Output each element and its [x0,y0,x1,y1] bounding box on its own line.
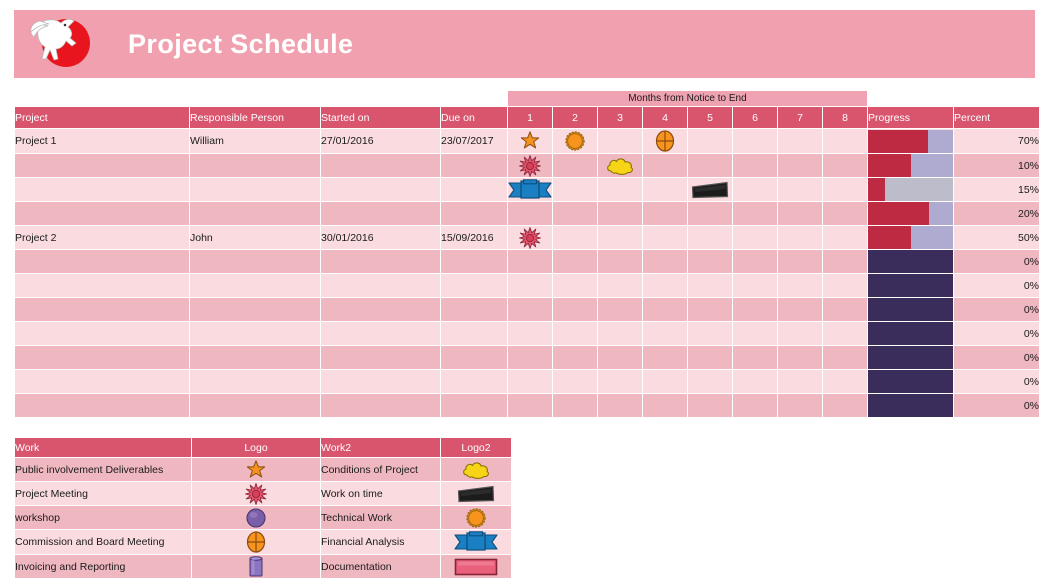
month-cell-2[interactable] [553,250,597,273]
cell-project[interactable] [15,178,189,201]
month-cell-6[interactable] [733,274,777,297]
month-cell-5[interactable] [688,250,732,273]
cell-responsible[interactable] [190,346,320,369]
month-cell-6[interactable] [733,346,777,369]
cell-responsible[interactable] [190,250,320,273]
column-header-month-8[interactable]: 8 [823,107,867,128]
percent-cell[interactable]: 50% [954,226,1039,249]
legend-work-label: Project Meeting [15,482,191,505]
group-spacer-resp [190,91,320,106]
column-header-month-1[interactable]: 1 [508,107,552,128]
month-cell-6[interactable] [733,250,777,273]
cell-due-on[interactable] [441,178,507,201]
column-header-project[interactable]: Project [15,107,189,128]
purple-circle-icon [246,508,266,528]
cell-responsible[interactable] [190,202,320,225]
group-spacer-progress [868,91,953,106]
cell-started-on[interactable] [321,178,440,201]
month-cell-7[interactable] [778,274,822,297]
legend-work2-label: Documentation [321,555,440,578]
black-screen-icon [457,485,495,503]
cell-started-on[interactable] [321,346,440,369]
legend-body: Public involvement DeliverablesCondition… [15,458,511,578]
table-row[interactable]: Project 2John30/01/201615/09/201650% [15,226,1039,249]
month-cell-4[interactable] [643,129,687,153]
progress-bar-fill [868,178,885,201]
column-header-progress[interactable]: Progress [868,107,953,128]
legend-column-header-logo[interactable]: Logo [192,438,320,457]
legend-logo-cell [192,458,320,481]
cell-due-on[interactable]: 15/09/2016 [441,226,507,249]
month-cell-1[interactable] [508,346,552,369]
month-cell-7[interactable] [778,250,822,273]
table-row[interactable]: Project 1William27/01/201623/07/201770% [15,129,1039,153]
legend-row[interactable]: Public involvement DeliverablesCondition… [15,458,511,481]
column-header-responsible[interactable]: Responsible Person [190,107,320,128]
column-header-month-5[interactable]: 5 [688,107,732,128]
pink-sunburst-icon [245,483,267,505]
legend-work-label: Commission and Board Meeting [15,530,191,554]
legend-column-header-work[interactable]: Work [15,438,191,457]
month-cell-1[interactable] [508,250,552,273]
column-header-month-3[interactable]: 3 [598,107,642,128]
pink-sunburst-icon [519,227,541,249]
month-cell-2[interactable] [553,202,597,225]
month-cell-6[interactable] [733,129,777,153]
cell-due-on[interactable] [441,394,507,417]
month-cell-7[interactable] [778,226,822,249]
column-header-month-7[interactable]: 7 [778,107,822,128]
column-header-percent[interactable]: Percent [954,107,1039,128]
table-row[interactable]: 0% [15,274,1039,297]
month-cell-3[interactable] [598,129,642,153]
cell-responsible[interactable] [190,154,320,177]
percent-cell[interactable]: 0% [954,346,1039,369]
cell-due-on[interactable] [441,250,507,273]
progress-cell[interactable] [868,274,953,297]
cell-started-on[interactable]: 27/01/2016 [321,129,440,153]
month-cell-1[interactable] [508,202,552,225]
table-row[interactable]: 10% [15,154,1039,177]
legend-logo-cell [192,530,320,554]
month-cell-3[interactable] [598,250,642,273]
percent-cell[interactable]: 0% [954,322,1039,345]
month-cell-8[interactable] [823,250,867,273]
month-cell-3[interactable] [598,346,642,369]
progress-bar [868,322,953,345]
month-cell-6[interactable] [733,370,777,393]
orange-sun-disc-icon [465,507,487,529]
group-spacer-percent [954,91,1039,106]
cell-started-on[interactable] [321,154,440,177]
month-cell-3[interactable] [598,202,642,225]
month-cell-5[interactable] [688,322,732,345]
progress-bar [868,202,953,225]
cell-responsible[interactable] [190,394,320,417]
month-cell-4[interactable] [643,274,687,297]
progress-cell[interactable] [868,129,953,153]
cell-started-on[interactable] [321,298,440,321]
month-cell-3[interactable] [598,322,642,345]
percent-cell[interactable]: 0% [954,274,1039,297]
percent-cell[interactable]: 20% [954,202,1039,225]
cell-started-on[interactable]: 30/01/2016 [321,226,440,249]
month-cell-8[interactable] [823,298,867,321]
progress-cell[interactable] [868,226,953,249]
legend-row[interactable]: Commission and Board MeetingFinancial An… [15,530,511,554]
month-cell-1[interactable] [508,178,552,201]
pink-rectangle-icon [454,558,498,576]
schedule-header-row: Project Responsible Person Started on Du… [15,107,1039,128]
cell-due-on[interactable] [441,202,507,225]
month-cell-6[interactable] [733,322,777,345]
legend-work-label: Public involvement Deliverables [15,458,191,481]
progress-bar [868,346,953,369]
month-cell-4[interactable] [643,298,687,321]
blue-ribbon-icon [454,531,498,553]
table-row[interactable]: 0% [15,322,1039,345]
legend-work-label: workshop [15,506,191,529]
month-cell-3[interactable] [598,274,642,297]
month-cell-6[interactable] [733,298,777,321]
month-cell-6[interactable] [733,226,777,249]
legend-logo2-cell [441,482,511,505]
legend-row[interactable]: Project MeetingWork on time [15,482,511,505]
month-cell-1[interactable] [508,226,552,249]
legend-row[interactable]: workshopTechnical Work [15,506,511,529]
month-cell-3[interactable] [598,298,642,321]
month-cell-8[interactable] [823,178,867,201]
month-cell-6[interactable] [733,154,777,177]
month-cell-3[interactable] [598,226,642,249]
table-row[interactable]: 0% [15,250,1039,273]
month-cell-4[interactable] [643,202,687,225]
cell-project[interactable] [15,322,189,345]
progress-bar [868,178,953,201]
legend-work2-label: Financial Analysis [321,530,440,554]
month-cell-5[interactable] [688,154,732,177]
page-title: Project Schedule [128,29,353,60]
progress-cell[interactable] [868,370,953,393]
cell-responsible[interactable] [190,274,320,297]
progress-bar-fill [868,202,929,225]
month-cell-2[interactable] [553,346,597,369]
orange-crossed-circle-icon [245,530,267,554]
progress-bar-fill [868,154,911,177]
month-cell-4[interactable] [643,322,687,345]
cell-responsible[interactable]: William [190,129,320,153]
cell-due-on[interactable] [441,274,507,297]
progress-cell[interactable] [868,394,953,417]
legend-work-label: Invoicing and Reporting [15,555,191,578]
month-cell-7[interactable] [778,298,822,321]
month-cell-8[interactable] [823,394,867,417]
month-cell-7[interactable] [778,394,822,417]
percent-cell[interactable]: 0% [954,394,1039,417]
percent-cell[interactable]: 0% [954,370,1039,393]
progress-bar [868,154,953,177]
percent-cell[interactable]: 10% [954,154,1039,177]
month-cell-3[interactable] [598,178,642,201]
month-cell-8[interactable] [823,274,867,297]
percent-cell[interactable]: 15% [954,178,1039,201]
month-cell-4[interactable] [643,154,687,177]
column-header-started-on[interactable]: Started on [321,107,440,128]
table-row[interactable]: 0% [15,298,1039,321]
cell-project[interactable]: Project 1 [15,129,189,153]
month-cell-4[interactable] [643,370,687,393]
month-cell-8[interactable] [823,346,867,369]
orange-star-icon [519,130,541,152]
month-cell-5[interactable] [688,346,732,369]
legend-column-header-work2[interactable]: Work2 [321,438,440,457]
month-cell-6[interactable] [733,202,777,225]
month-cell-2[interactable] [553,274,597,297]
progress-cell[interactable] [868,322,953,345]
blue-ribbon-icon [508,179,552,201]
group-spacer-due [441,91,507,106]
month-cell-6[interactable] [733,178,777,201]
cell-started-on[interactable] [321,322,440,345]
orange-crossed-circle-icon [654,129,676,153]
schedule-group-header-row: Months from Notice to End [15,91,1039,106]
group-spacer-project [15,91,189,106]
month-cell-2[interactable] [553,226,597,249]
pegasus-horse-glyph [28,13,100,75]
cell-project[interactable] [15,250,189,273]
month-cell-5[interactable] [688,202,732,225]
month-cell-7[interactable] [778,346,822,369]
month-cell-4[interactable] [643,178,687,201]
cell-due-on[interactable] [441,154,507,177]
cell-project[interactable] [15,154,189,177]
table-row[interactable]: 15% [15,178,1039,201]
progress-bar [868,130,953,153]
percent-cell[interactable]: 0% [954,250,1039,273]
pink-sunburst-icon [519,155,541,177]
month-cell-5[interactable] [688,370,732,393]
progress-bar [868,250,953,273]
progress-cell[interactable] [868,298,953,321]
progress-cell[interactable] [868,154,953,177]
progress-cell[interactable] [868,202,953,225]
progress-bar [868,370,953,393]
month-cell-1[interactable] [508,394,552,417]
cell-project[interactable] [15,370,189,393]
progress-cell[interactable] [868,346,953,369]
legend-work2-label: Work on time [321,482,440,505]
month-cell-6[interactable] [733,394,777,417]
month-cell-7[interactable] [778,178,822,201]
progress-bar-fill [868,226,911,249]
progress-cell[interactable] [868,250,953,273]
yellow-cloud-icon [461,460,491,480]
project-schedule-page: Project Schedule Months from Notice to E… [0,0,1048,586]
table-row[interactable]: 0% [15,346,1039,369]
cell-started-on[interactable] [321,370,440,393]
month-cell-1[interactable] [508,274,552,297]
month-cell-4[interactable] [643,250,687,273]
progress-bar [868,226,953,249]
percent-cell[interactable]: 70% [954,129,1039,153]
month-cell-7[interactable] [778,129,822,153]
percent-cell[interactable]: 0% [954,298,1039,321]
month-cell-5[interactable] [688,226,732,249]
month-cell-2[interactable] [553,129,597,153]
cell-responsible[interactable] [190,298,320,321]
month-cell-7[interactable] [778,370,822,393]
month-cell-3[interactable] [598,394,642,417]
month-cell-5[interactable] [688,129,732,153]
month-cell-2[interactable] [553,298,597,321]
month-cell-8[interactable] [823,202,867,225]
column-header-month-6[interactable]: 6 [733,107,777,128]
cell-responsible[interactable]: John [190,226,320,249]
month-cell-8[interactable] [823,154,867,177]
cell-due-on[interactable] [441,370,507,393]
column-header-month-4[interactable]: 4 [643,107,687,128]
legend-logo2-cell [441,458,511,481]
month-cell-8[interactable] [823,226,867,249]
month-cell-1[interactable] [508,322,552,345]
legend-logo-cell [192,555,320,578]
cell-responsible[interactable] [190,178,320,201]
cell-project[interactable] [15,274,189,297]
cell-due-on[interactable] [441,322,507,345]
legend-table: Work Logo Work2 Logo2 Public involvement… [14,437,512,579]
cell-project[interactable] [15,346,189,369]
month-cell-4[interactable] [643,394,687,417]
legend-logo2-cell [441,506,511,529]
title-banner: Project Schedule [14,10,1035,78]
pegasus-logo-icon [28,13,100,75]
cell-responsible[interactable] [190,322,320,345]
black-screen-icon [691,181,729,199]
month-cell-2[interactable] [553,322,597,345]
legend-logo2-cell [441,530,511,554]
legend-logo2-cell [441,555,511,578]
month-cell-2[interactable] [553,178,597,201]
legend-work2-label: Conditions of Project [321,458,440,481]
cell-project[interactable] [15,298,189,321]
cell-project[interactable]: Project 2 [15,226,189,249]
cell-due-on[interactable] [441,298,507,321]
month-cell-5[interactable] [688,394,732,417]
cell-started-on[interactable] [321,394,440,417]
month-cell-8[interactable] [823,129,867,153]
table-row[interactable]: 0% [15,394,1039,417]
month-cell-5[interactable] [688,178,732,201]
progress-bar-fill [868,130,928,153]
yellow-cloud-icon [605,156,635,176]
month-cell-1[interactable] [508,298,552,321]
group-spacer-start [321,91,440,106]
cell-started-on[interactable] [321,202,440,225]
legend-logo-cell [192,482,320,505]
progress-bar [868,394,953,417]
schedule-body: Project 1William27/01/201623/07/201770%1… [15,129,1039,417]
month-cell-4[interactable] [643,346,687,369]
cell-due-on[interactable]: 23/07/2017 [441,129,507,153]
cell-project[interactable] [15,394,189,417]
month-cell-3[interactable] [598,154,642,177]
month-cell-5[interactable] [688,274,732,297]
column-header-month-2[interactable]: 2 [553,107,597,128]
cell-project[interactable] [15,202,189,225]
month-cell-7[interactable] [778,202,822,225]
cell-started-on[interactable] [321,274,440,297]
purple-cylinder-icon [248,556,264,578]
column-header-due-on[interactable]: Due on [441,107,507,128]
month-cell-1[interactable] [508,370,552,393]
progress-cell[interactable] [868,178,953,201]
month-cell-7[interactable] [778,154,822,177]
month-cell-8[interactable] [823,322,867,345]
month-cell-8[interactable] [823,370,867,393]
table-row[interactable]: 0% [15,370,1039,393]
cell-responsible[interactable] [190,370,320,393]
legend-header-row: Work Logo Work2 Logo2 [15,438,511,457]
month-cell-2[interactable] [553,370,597,393]
month-cell-5[interactable] [688,298,732,321]
month-cell-3[interactable] [598,370,642,393]
months-group-header: Months from Notice to End [508,91,867,106]
month-cell-7[interactable] [778,322,822,345]
month-cell-4[interactable] [643,226,687,249]
table-row[interactable]: 20% [15,202,1039,225]
month-cell-1[interactable] [508,129,552,153]
cell-started-on[interactable] [321,250,440,273]
month-cell-2[interactable] [553,154,597,177]
month-cell-1[interactable] [508,154,552,177]
legend-column-header-logo2[interactable]: Logo2 [441,438,511,457]
legend-logo-cell [192,506,320,529]
legend-row[interactable]: Invoicing and ReportingDocumentation [15,555,511,578]
legend-work2-label: Technical Work [321,506,440,529]
orange-star-icon [245,459,267,481]
cell-due-on[interactable] [441,346,507,369]
progress-bar [868,298,953,321]
progress-bar [868,274,953,297]
orange-sun-disc-icon [564,130,586,152]
schedule-table: Months from Notice to End Project Respon… [14,90,1040,418]
month-cell-2[interactable] [553,394,597,417]
